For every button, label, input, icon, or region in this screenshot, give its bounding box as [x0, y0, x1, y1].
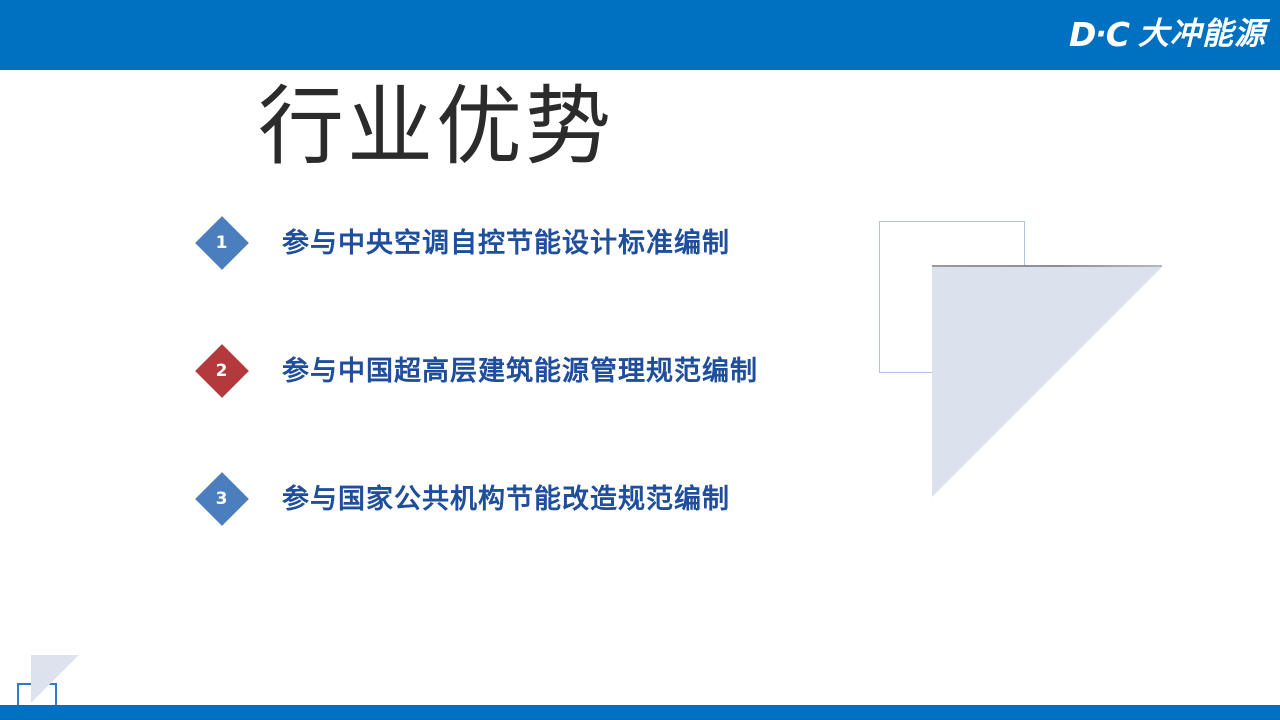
advantage-list: 1 参与中央空调自控节能设计标准编制 2 参与中国超高层建筑能源管理规范编制 3… — [196, 212, 896, 530]
logo-monogram: D·C — [1069, 18, 1129, 51]
decoration-small-triangle-fill — [31, 655, 79, 703]
logo-letter-d: D — [1069, 15, 1095, 54]
list-item: 1 参与中央空调自控节能设计标准编制 — [196, 212, 896, 274]
list-item-label: 参与国家公共机构节能改造规范编制 — [282, 486, 730, 513]
list-marker-diamond-1: 1 — [195, 216, 249, 270]
list-marker-number: 2 — [216, 363, 228, 380]
decoration-triangle — [932, 265, 1162, 497]
list-marker-diamond-2: 2 — [195, 344, 249, 398]
bottom-brand-bar — [0, 705, 1280, 720]
presentation-slide: D·C 大冲能源 行业优势 1 参与中央空调自控节能设计标准编制 2 参与中国超… — [0, 0, 1280, 720]
company-logo: D·C 大冲能源 — [1069, 12, 1266, 56]
logo-dot: · — [1095, 17, 1105, 52]
list-marker-number: 3 — [216, 491, 228, 508]
decoration-small-triangle — [31, 655, 79, 703]
list-marker-number: 1 — [216, 235, 228, 252]
list-item: 3 参与国家公共机构节能改造规范编制 — [196, 468, 896, 530]
list-item-label: 参与中央空调自控节能设计标准编制 — [282, 230, 730, 257]
logo-company-name: 大冲能源 — [1138, 19, 1266, 50]
list-marker-diamond-3: 3 — [195, 472, 249, 526]
top-brand-bar: D·C 大冲能源 — [0, 0, 1280, 70]
decoration-triangle-fill — [932, 267, 1162, 497]
page-title: 行业优势 — [258, 78, 614, 177]
logo-letter-c: C — [1106, 15, 1129, 54]
list-item-label: 参与中国超高层建筑能源管理规范编制 — [282, 358, 758, 385]
list-item: 2 参与中国超高层建筑能源管理规范编制 — [196, 340, 896, 402]
